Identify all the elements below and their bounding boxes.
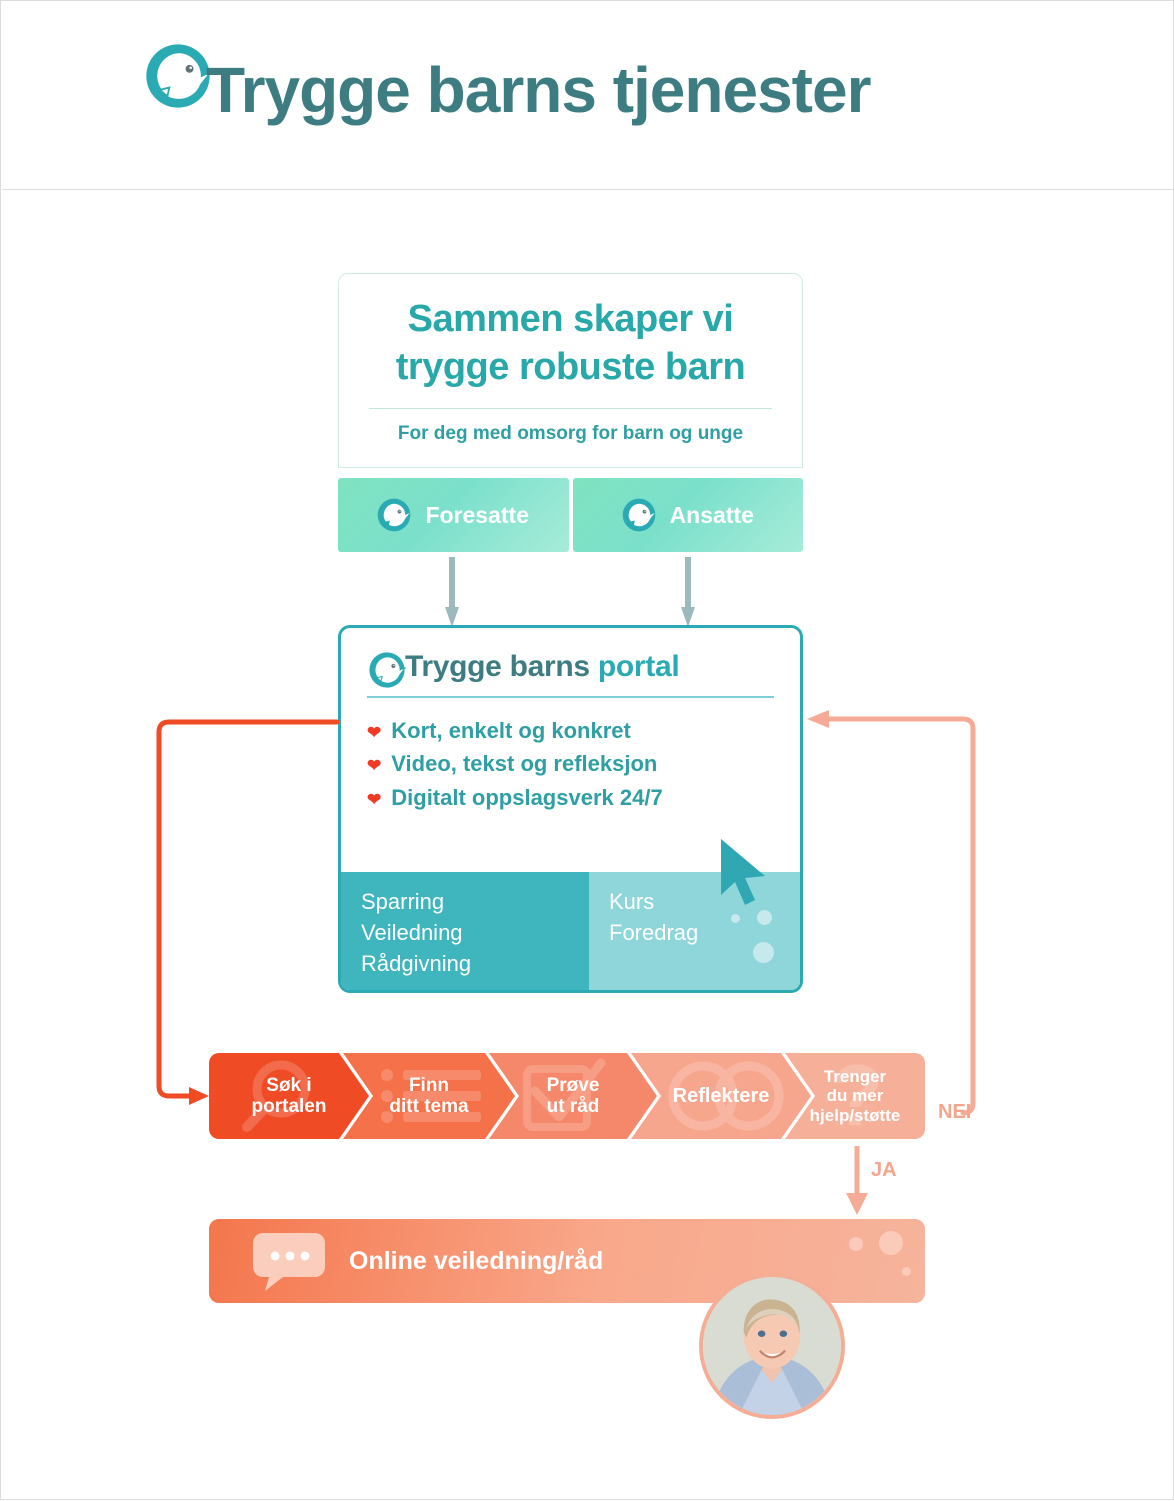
step-label-line: Prøve [547,1075,600,1096]
hero-card: Sammen skaper vi trygge robuste barn For… [338,273,803,468]
step-label-line: Finn [389,1075,468,1096]
step-label: Reflektere [667,1085,776,1107]
portal-title: Trygge barns portal [405,650,679,684]
step-label: Trenger du mer hjelp/støtte [804,1067,907,1124]
arrow-ansatte-to-portal [681,557,695,629]
service-label: Sparring [361,886,589,917]
chat-bubble-icon [253,1231,325,1291]
list-item: ❤Digitalt oppslagsverk 24/7 [367,781,774,814]
audience-button-label: Foresatte [425,502,529,529]
audience-button-foresatte[interactable]: Foresatte [338,478,569,552]
trygge-barn-bird-logo-icon [377,498,411,532]
portal-title-accent: portal [598,650,680,683]
heart-icon: ❤ [367,787,381,813]
step-label-line: ut råd [547,1096,600,1117]
step-label-line: Søk i [252,1075,327,1096]
audience-button-ansatte[interactable]: Ansatte [573,478,804,552]
step-label-line: ditt tema [389,1096,468,1117]
hero-heading: Sammen skaper vi trygge robuste barn [365,296,776,392]
step-label-line: du mer [810,1086,901,1105]
feature-label: Kort, enkelt og konkret [391,714,631,747]
portal-services-left[interactable]: Sparring Veiledning Rådgivning [341,872,589,990]
heart-icon: ❤ [367,753,381,779]
step-label-line: Reflektere [673,1085,770,1107]
step-label-line: portalen [252,1096,327,1117]
hero-divider [369,408,772,409]
list-item: ❤Video, tekst og refleksjon [367,747,774,780]
trygge-barn-bird-logo-icon [622,498,656,532]
trygge-barn-bird-logo-icon [367,650,407,690]
portal-card: Trygge barns portal ❤Kort, enkelt og kon… [338,625,803,993]
decor-dot-small [849,1237,863,1251]
service-label: Veiledning [361,917,589,948]
decision-label-no: NEI [938,1101,971,1124]
hero-subtitle: For deg med omsorg for barn og unge [365,423,776,445]
mouse-pointer-icon [717,837,775,909]
service-label: Foredrag [609,917,800,948]
service-label: Rådgivning [361,948,589,979]
arrow-foresatte-to-portal [445,557,459,629]
heart-icon: ❤ [367,720,381,746]
step-label: Søk i portalen [246,1075,333,1118]
process-step-bar: Søk i portalen Finn ditt tema Prøve u [209,1053,925,1139]
step-label: Prøve ut råd [541,1075,606,1118]
step-label-line: Trenger [810,1067,901,1086]
decor-dot-large [753,942,774,963]
process-step-reflektere[interactable]: Reflektere [631,1053,811,1139]
process-step-sok-i-portalen[interactable]: Søk i portalen [209,1053,369,1139]
brand: Trygge barns tjenester [142,40,870,122]
portal-feature-list: ❤Kort, enkelt og konkret ❤Video, tekst o… [367,714,774,814]
hero-heading-line2: trygge robuste barn [396,346,745,388]
portal-divider [367,696,774,698]
decor-dot-large [879,1231,903,1255]
online-advice-label: Online veiledning/råd [349,1247,603,1276]
step-label: Finn ditt tema [383,1075,474,1118]
feature-label: Video, tekst og refleksjon [391,747,657,780]
decor-dot-small [731,914,740,923]
page-header: Trygge barns tjenester [2,2,1174,190]
portal-header: Trygge barns portal [367,650,774,684]
hero-heading-line1: Sammen skaper vi [408,298,734,340]
audience-button-label: Ansatte [670,502,754,529]
avatar [699,1273,845,1419]
page-title: Trygge barns tjenester [206,58,870,122]
infographic-page: Trygge barns tjenester Sammen skaper vi … [0,0,1174,1500]
feature-label: Digitalt oppslagsverk 24/7 [391,781,662,814]
decor-dot-medium [757,910,772,925]
step-label-line: hjelp/støtte [810,1106,901,1125]
decision-label-yes: JA [871,1159,897,1182]
list-item: ❤Kort, enkelt og konkret [367,714,774,747]
portal-title-plain: Trygge barns [405,650,598,683]
decor-dot-tiny [902,1267,911,1276]
portal-body: Trygge barns portal ❤Kort, enkelt og kon… [341,628,800,814]
trygge-barn-bird-logo-icon [142,40,214,112]
audience-buttons: Foresatte Ansatte [338,478,803,552]
